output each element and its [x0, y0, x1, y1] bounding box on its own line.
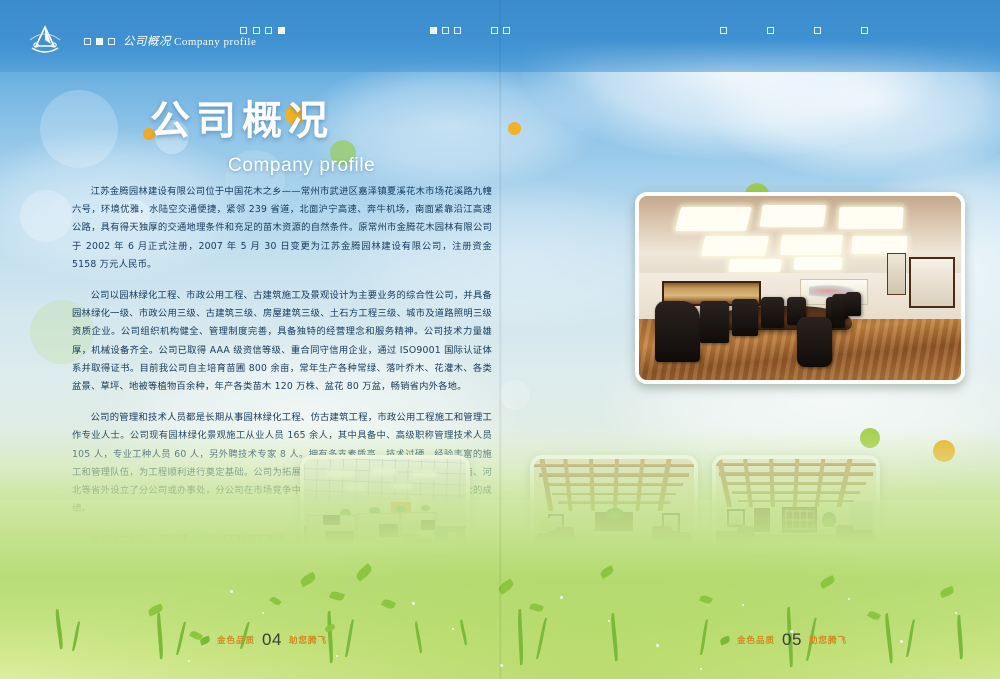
square-marker-icon — [265, 27, 272, 34]
sparkle-dot — [848, 598, 850, 600]
square-marker-icon — [253, 27, 260, 34]
square-marker-icon — [240, 27, 247, 34]
header-marker-group-2 — [240, 27, 285, 34]
header-marker-group-4 — [720, 27, 868, 34]
sparkle-dot — [955, 612, 957, 614]
page-title: 公司概况 — [150, 88, 375, 146]
sparkle-dot — [262, 612, 264, 614]
sparkle-dot — [336, 655, 338, 657]
footer-right-page: 金色品质 05 助您腾飞 — [720, 630, 847, 650]
sparkle-dot — [700, 668, 702, 670]
brochure-spread: 公司概况Company profile — [0, 0, 1000, 679]
sailboat-logo — [24, 24, 66, 58]
footer-slogan-right: 助您腾飞 — [289, 634, 327, 646]
sparkle-dot — [188, 660, 190, 662]
office-chair — [732, 299, 758, 336]
page-number: 05 — [782, 630, 802, 650]
office-chair — [700, 301, 729, 343]
office-chair — [845, 292, 861, 316]
conference-room-photo — [635, 192, 965, 384]
window — [887, 253, 906, 295]
square-marker-icon — [96, 38, 103, 45]
page-number: 04 — [262, 630, 282, 650]
square-marker-pair — [430, 27, 461, 34]
footer-slogan-left: 金色品质 — [217, 634, 255, 646]
square-marker-icon — [814, 27, 821, 34]
header-nav-label-cn: 公司概况 — [123, 36, 171, 48]
square-marker-icon — [491, 27, 498, 34]
leaf-icon — [719, 635, 731, 645]
square-marker-icon — [278, 27, 285, 34]
sparkle-dot — [412, 602, 415, 605]
square-marker-icon — [442, 27, 449, 34]
window — [909, 257, 954, 309]
paragraph: 江苏金腾园林建设有限公司位于中国花木之乡——常州市武进区嘉泽镇夏溪花木市场花溪路… — [72, 183, 492, 274]
sparkle-dot — [742, 604, 744, 606]
square-marker-icon — [430, 27, 437, 34]
square-marker-icon — [108, 38, 115, 45]
office-chair — [655, 301, 700, 362]
header-nav-label[interactable]: 公司概况Company profile — [123, 33, 256, 49]
square-marker-icon — [503, 27, 510, 34]
square-marker-icon — [84, 38, 91, 45]
sparkle-dot — [900, 640, 903, 643]
page-subtitle: Company profile — [228, 155, 375, 177]
sparkle-dot — [230, 590, 233, 593]
office-chair — [797, 317, 832, 367]
paragraph: 公司以园林绿化工程、市政公用工程、古建筑施工及景观设计为主要业务的综合性公司，并… — [72, 287, 492, 396]
sparkle-dot — [560, 596, 563, 599]
header-marker-group-3 — [430, 27, 510, 34]
square-marker-pair — [253, 27, 272, 34]
square-marker-icon — [767, 27, 774, 34]
header-nav-label-en: Company profile — [174, 36, 256, 48]
square-marker-icon — [720, 27, 727, 34]
header-marker-group-1 — [84, 38, 115, 45]
sparkle-dot — [608, 620, 610, 622]
square-marker-icon — [861, 27, 868, 34]
square-marker-icon — [454, 27, 461, 34]
footer-slogan-left: 金色品质 — [737, 634, 775, 646]
header-brand-group: 公司概况Company profile — [24, 24, 256, 58]
page-spine — [499, 0, 502, 679]
footer-left-page: 金色品质 04 助您腾飞 — [200, 630, 327, 650]
sparkle-dot — [452, 628, 454, 630]
sparkle-dot — [656, 644, 659, 647]
office-chair — [761, 297, 784, 328]
leaf-icon — [199, 635, 211, 645]
footer-slogan-right: 助您腾飞 — [809, 634, 847, 646]
page-title-block: 公司概况 Company profile — [150, 88, 375, 177]
